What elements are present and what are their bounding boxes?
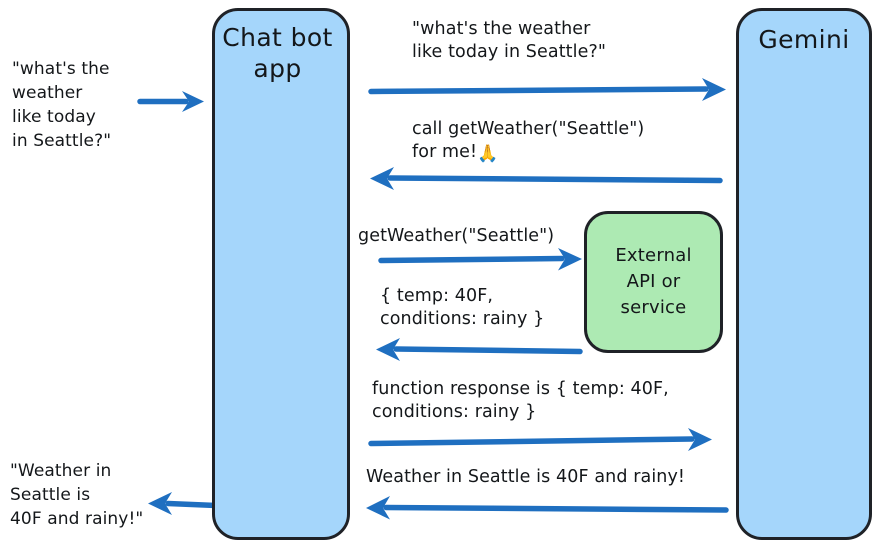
arrow-chatbot-to-gemini-request bbox=[368, 76, 734, 108]
message-label-call-function: call getWeather("Seattle") for me!🙏 bbox=[412, 118, 752, 166]
message-label-api-call: getWeather("Seattle") bbox=[358, 225, 598, 248]
praying-hands-icon: 🙏 bbox=[477, 144, 498, 164]
lifeline-chat-bot-app[interactable]: Chat bot app bbox=[212, 8, 350, 540]
arrow-chatbot-to-external bbox=[378, 246, 590, 276]
lifeline-gemini[interactable]: Gemini bbox=[736, 8, 872, 540]
node-label-external-api: External API or service bbox=[615, 243, 691, 321]
message-label-user-request: "what's the weather like today in Seattl… bbox=[12, 57, 212, 154]
arrow-gemini-to-chatbot-answer bbox=[362, 494, 730, 526]
node-external-api-or-service[interactable]: External API or service bbox=[584, 211, 723, 353]
lifeline-label-gemini: Gemini bbox=[758, 25, 849, 537]
arrow-chatbot-to-gemini-response bbox=[368, 428, 720, 460]
diagram-canvas: Chat bot app Gemini External API or serv… bbox=[0, 0, 880, 548]
message-text-call-function: call getWeather("Seattle") for me! bbox=[412, 119, 644, 162]
message-label-api-response: { temp: 40F, conditions: rainy } bbox=[380, 285, 610, 332]
lifeline-label-chat-bot-app: Chat bot app bbox=[208, 23, 347, 537]
arrow-gemini-to-chatbot-functioncall bbox=[368, 164, 728, 196]
arrow-external-to-chatbot bbox=[372, 336, 584, 366]
message-label-to-gemini: "what's the weather like today in Seattl… bbox=[412, 18, 742, 65]
message-label-user-reply: "Weather in Seattle is 40F and rainy!" bbox=[10, 459, 210, 531]
message-label-final-answer: Weather in Seattle is 40F and rainy! bbox=[366, 466, 766, 489]
message-label-function-response: function response is { temp: 40F, condit… bbox=[372, 378, 722, 425]
